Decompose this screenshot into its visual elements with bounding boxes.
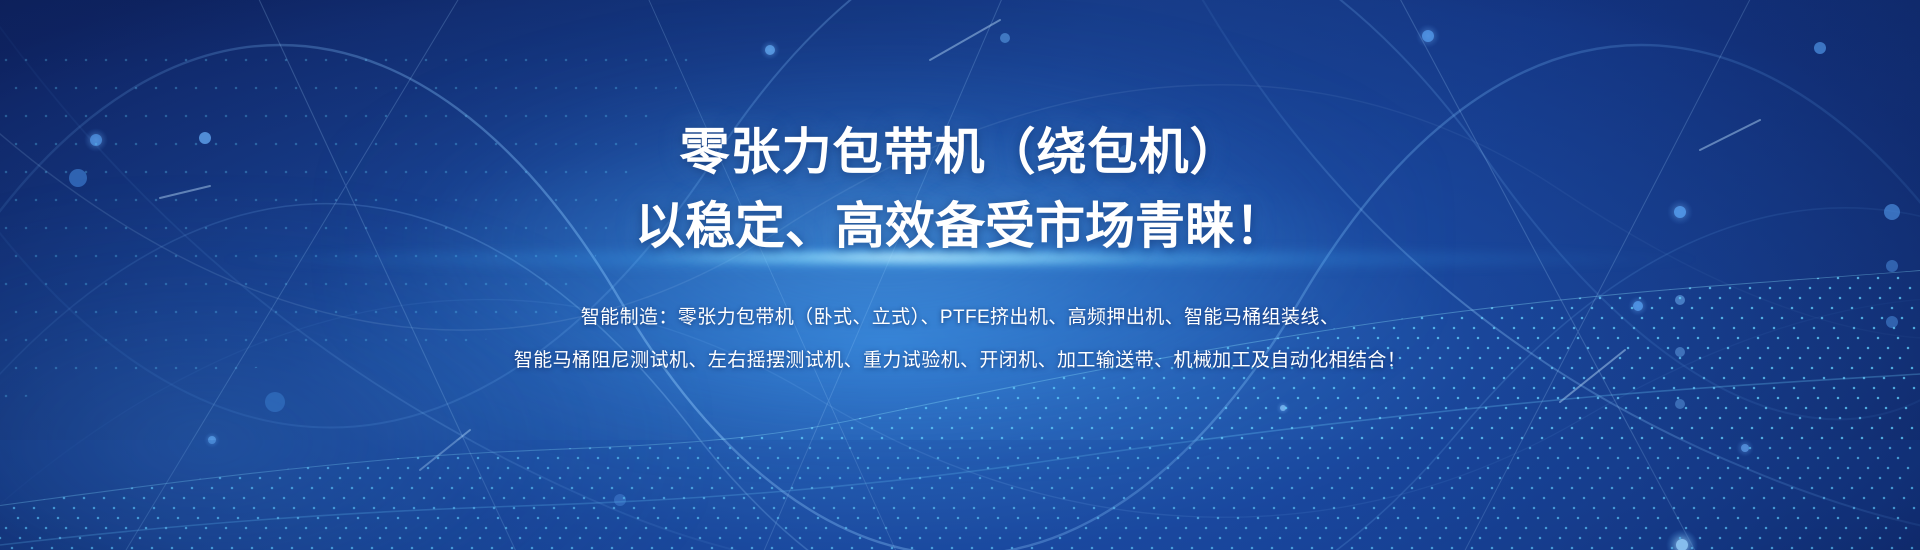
dot-mesh-wave-decoration bbox=[0, 0, 1920, 550]
hero-banner: 零张力包带机（绕包机） 以稳定、高效备受市场青睐！ 智能制造：零张力包带机（卧式… bbox=[0, 0, 1920, 550]
